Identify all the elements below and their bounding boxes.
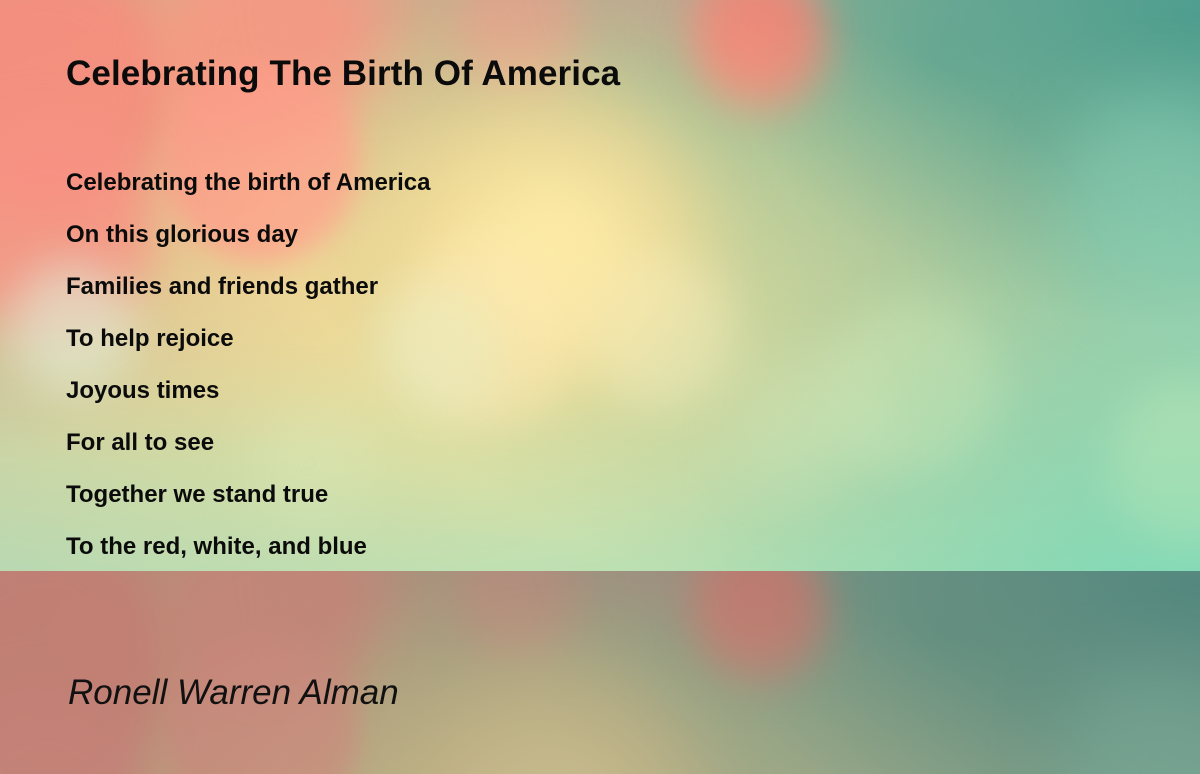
poem-author: Ronell Warren Alman [68, 673, 399, 713]
poem-image-card: Celebrating The Birth Of America Celebra… [0, 0, 1200, 774]
author-text-layer: Ronell Warren Alman [0, 0, 1200, 774]
